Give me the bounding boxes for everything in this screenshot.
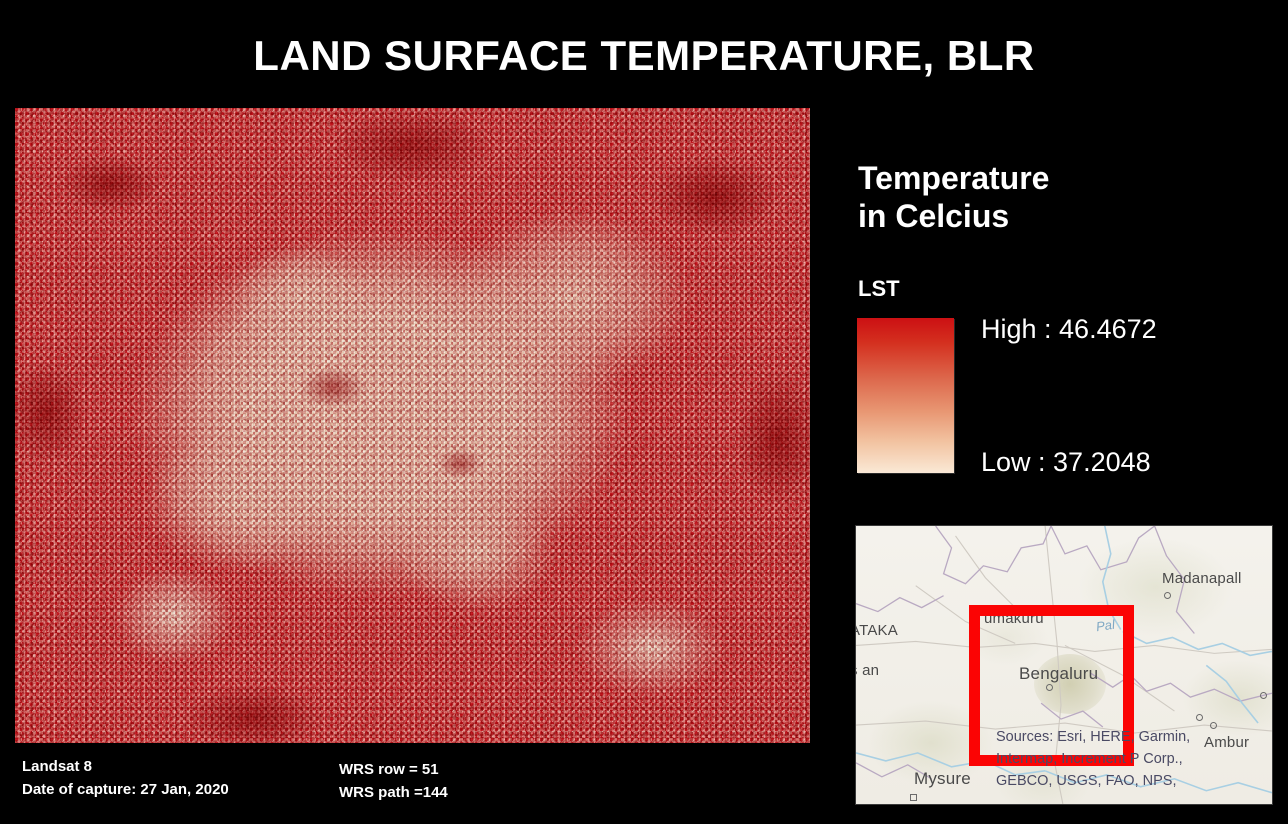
inset-label-karnataka: ATAKA [855,622,898,639]
inset-marker-unnamed-a [1260,692,1267,699]
lst-raster-map[interactable] [15,108,810,743]
legend-color-ramp [857,318,954,473]
inset-locator-map[interactable]: Madanapall ATAKA s an umakuru Bengaluru … [855,525,1273,805]
inset-label-mysuru: Mysure [914,769,971,789]
source-metadata: Landsat 8 Date of capture: 27 Jan, 2020 [22,756,229,801]
inset-label-madanapalle: Madanapall [1162,570,1242,587]
inset-label-hassan: s an [855,662,879,679]
wrs-row-label: WRS row = 51 [339,758,448,781]
legend-heading: Temperature in Celcius [858,160,1049,236]
basemap-attribution: Sources: Esri, HERE, Garmin, Intermap, I… [996,726,1266,792]
inset-marker-mysuru [910,794,917,801]
satellite-label: Landsat 8 [22,756,229,779]
raster-pixel-grid [15,108,810,743]
legend-high-value: High : 46.4672 [981,314,1157,345]
page-title: LAND SURFACE TEMPERATURE, BLR [0,32,1288,80]
legend-low-value: Low : 37.2048 [981,447,1151,478]
wrs-metadata: WRS row = 51 WRS path =144 [339,758,448,805]
legend-field-name: LST [858,276,900,302]
inset-marker-madanapalle [1164,592,1171,599]
inset-marker-unnamed-b [1196,714,1203,721]
wrs-path-label: WRS path =144 [339,781,448,804]
capture-date-label: Date of capture: 27 Jan, 2020 [22,779,229,802]
